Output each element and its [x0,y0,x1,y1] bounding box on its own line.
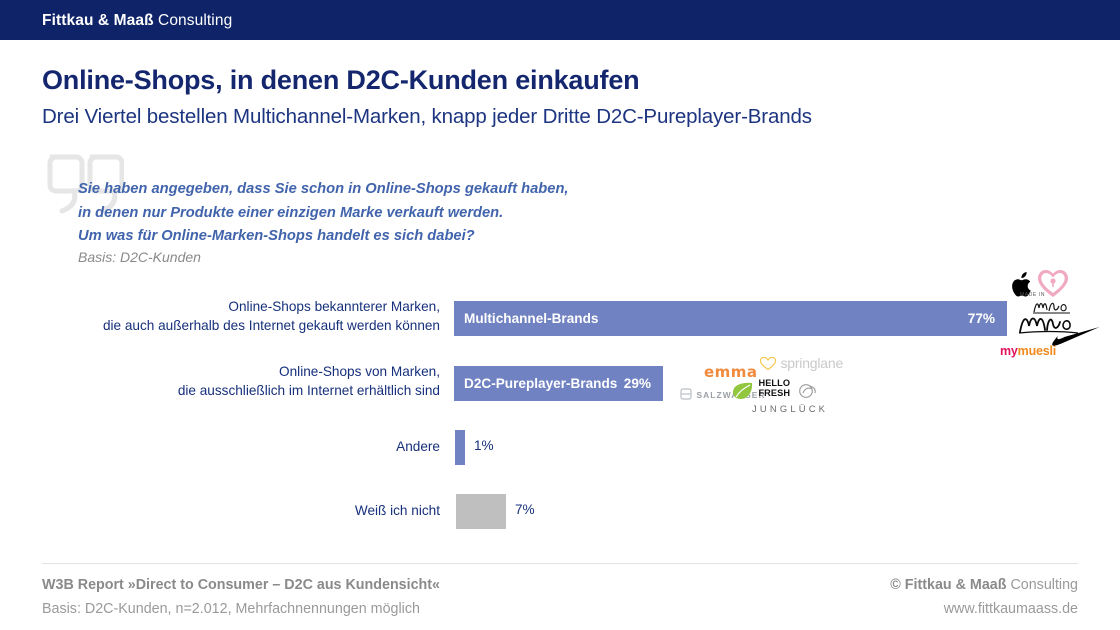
bar-chart: Online-Shops bekannterer Marken, die auc… [0,0,1120,630]
footer-left: W3B Report »Direct to Consumer – D2C aus… [42,573,440,621]
footer-basis: Basis: D2C-Kunden, n=2.012, Mehrfachnenn… [42,597,440,621]
bar-inner-label-multichannel: Multichannel-Brands [464,301,598,336]
mymuesli-logo: mymuesli [1000,344,1056,358]
hellofresh-logo: HELLO FRESH [732,379,790,401]
multichannel-brand-logos: MADE IN mymuesli [1000,272,1110,362]
bar-pureplayer[interactable]: D2C-Pureplayer-Brands 29% [454,366,663,401]
bar-multichannel[interactable]: Multichannel-Brands 77% [454,301,1007,336]
chart-row-weiss-ich-nicht: Weiß ich nicht 7% [0,494,1120,529]
row-label-line-1: Andere [40,438,440,457]
footer-divider [42,563,1078,564]
bar-value-andere: 1% [474,438,494,453]
footer-copyright: © Fittkau & Maaß Consulting [890,573,1078,597]
mymuesli-logo-part2: muesli [1018,344,1056,358]
chart-row-pureplayer: Online-Shops von Marken, die ausschließl… [0,366,1120,401]
row-label-multichannel: Online-Shops bekannterer Marken, die auc… [40,298,440,335]
d2c-brand-logos: emma SALZWASSER springlane HELLO FRESH [676,355,876,417]
bar-inner-label-pureplayer: D2C-Pureplayer-Brands [464,366,617,401]
bar-value-pureplayer: 29% [624,366,651,401]
script-brand-tagline: MADE IN [1020,292,1045,298]
nike-swoosh-logo [1052,327,1100,351]
apple-logo [1010,272,1032,303]
footer-website[interactable]: www.fittkaumaass.de [890,597,1078,621]
bar-value-multichannel: 77% [968,301,995,336]
row-label-line-1: Weiß ich nicht [40,502,440,521]
row-label-andere: Andere [40,438,440,457]
bar-weiss-ich-nicht[interactable] [456,494,506,529]
footer-copyright-light: Consulting [1006,577,1078,593]
row-label-pureplayer: Online-Shops von Marken, die ausschließl… [40,363,440,400]
footer-copyright-bold: © Fittkau & Maaß [890,577,1006,593]
row-label-line-1: Online-Shops bekannterer Marken, [40,298,440,317]
bar-value-weiss-ich-nicht: 7% [515,502,535,517]
mymuesli-logo-part1: my [1000,344,1018,358]
springlane-logo-text: springlane [780,355,843,371]
jungluck-logo-text: JUNGLÜCK [752,403,828,414]
row-label-line-2: die auch außerhalb des Internet gekauft … [40,317,440,336]
chart-row-andere: Andere 1% [0,430,1120,465]
bar-andere[interactable] [455,430,465,465]
row-label-weiss-ich-nicht: Weiß ich nicht [40,502,440,521]
hellofresh-logo-line2: FRESH [758,389,790,399]
chart-row-multichannel: Online-Shops bekannterer Marken, die auc… [0,301,1120,336]
jungluck-mark-icon [798,383,818,404]
footer-report-title: W3B Report »Direct to Consumer – D2C aus… [42,573,440,597]
row-label-line-1: Online-Shops von Marken, [40,363,440,382]
row-label-line-2: die ausschließlich im Internet erhältlic… [40,382,440,401]
jungluck-logo: JUNGLÜCK [752,403,828,414]
footer-right: © Fittkau & Maaß Consulting www.fittkaum… [890,573,1078,621]
springlane-logo: springlane [760,355,843,373]
